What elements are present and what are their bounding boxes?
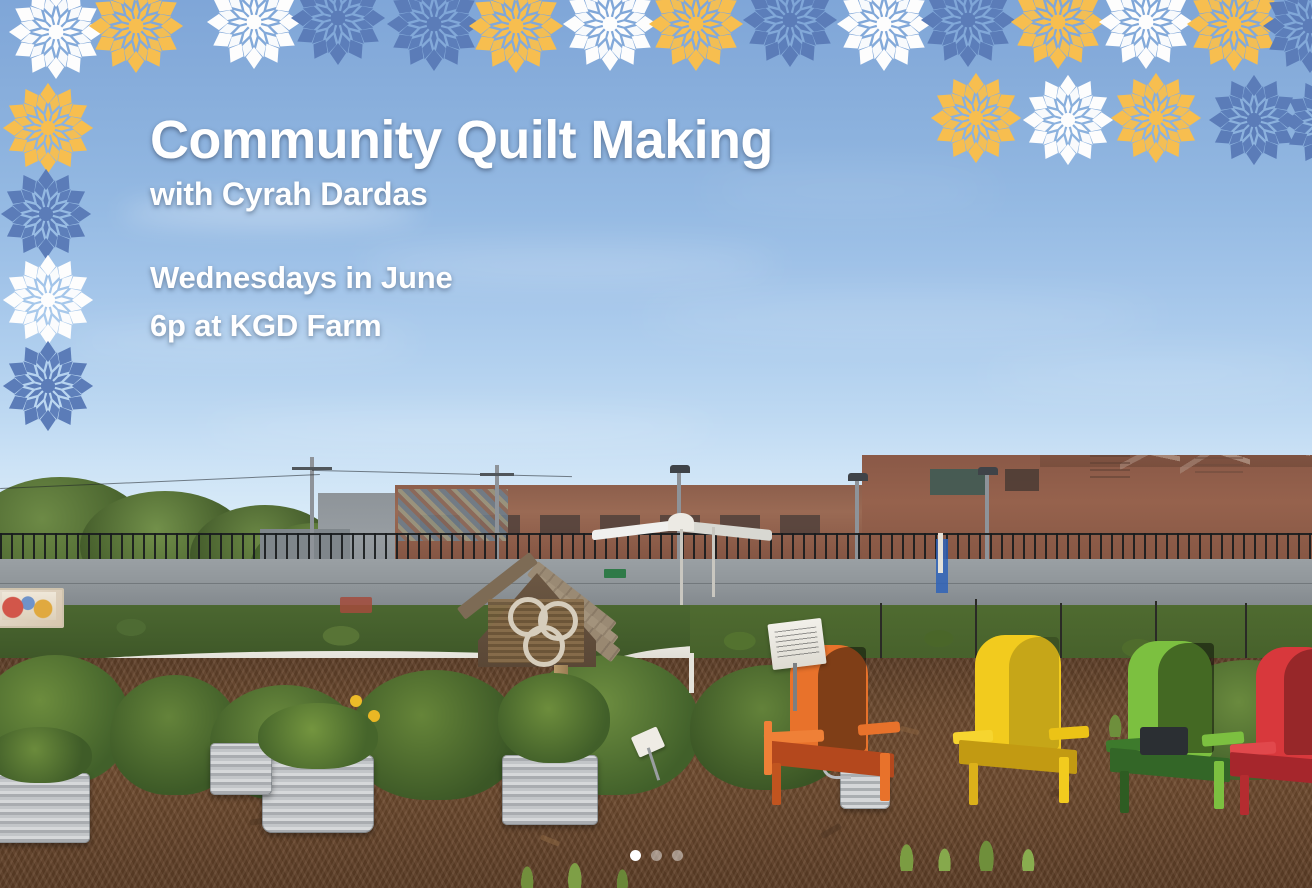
chair-arm <box>1049 726 1090 741</box>
adirondack-chair-orange <box>762 645 912 810</box>
chair-cushion-dark <box>1140 727 1188 755</box>
farm-photo-scene <box>0 455 1312 888</box>
adirondack-chair-green <box>1110 641 1250 816</box>
yellow-flower <box>350 695 362 707</box>
weed-patch <box>880 811 1070 871</box>
chair-leg <box>764 721 772 775</box>
chair-leg <box>969 763 978 805</box>
streetlight-head <box>978 467 998 475</box>
chair-back-shadow <box>1284 649 1312 755</box>
schedule-block: Wednesdays in June 6p at KGD Farm <box>150 254 950 350</box>
art-sign-graphic <box>2 592 56 620</box>
sign-post <box>793 663 797 711</box>
chair-leg <box>1240 775 1249 815</box>
planter-foliage <box>498 673 610 763</box>
marker-stake-white <box>689 653 694 693</box>
barrier-seam <box>0 583 1312 584</box>
page-title: Community Quilt Making <box>150 112 950 169</box>
brick-window <box>540 515 580 533</box>
adirondack-chair-red <box>1232 647 1312 817</box>
presenter-name: with Cyrah Dardas <box>150 177 950 212</box>
chair-leg <box>1120 771 1129 813</box>
chair-arm <box>858 721 901 736</box>
chair-leg <box>880 753 890 801</box>
planter-foliage <box>0 727 92 783</box>
streetlight-head <box>848 473 868 481</box>
umbrella-canopy-left <box>592 520 680 541</box>
promo-slide: Community Quilt Making with Cyrah Dardas… <box>0 0 1312 888</box>
chair-leg <box>772 763 781 805</box>
schedule-time-place: 6p at KGD Farm <box>150 302 950 350</box>
distant-cart <box>340 597 372 613</box>
carousel-dot-3[interactable] <box>672 850 683 861</box>
umbrella-pole-secondary <box>712 527 715 597</box>
carousel-dot-1[interactable] <box>630 850 641 861</box>
planter-foliage <box>258 703 378 769</box>
marker-stake-white <box>938 533 943 573</box>
skeleton-mural <box>1255 455 1310 483</box>
brick-window <box>780 515 820 533</box>
carousel-dots[interactable] <box>0 850 1312 861</box>
mural-ladder <box>1195 455 1243 473</box>
bee-hotel-trefoil <box>523 625 565 667</box>
adirondack-chair-yellow <box>955 635 1095 810</box>
chair-leg <box>1059 757 1069 803</box>
galvanized-planter-left <box>0 773 90 843</box>
brick-window <box>1005 469 1039 491</box>
schedule-day: Wednesdays in June <box>150 254 950 302</box>
chair-leg <box>1214 761 1224 809</box>
weed-patch <box>500 835 670 888</box>
mural-ladder <box>1090 455 1130 481</box>
shade-umbrella <box>592 511 772 555</box>
streetlight-head <box>670 465 690 473</box>
galvanized-planter-center <box>502 755 598 825</box>
carousel-dot-2[interactable] <box>651 850 662 861</box>
pole-crossarm <box>480 473 514 476</box>
slide-copy: Community Quilt Making with Cyrah Dardas… <box>150 112 950 350</box>
sign-text-lines <box>774 627 819 660</box>
power-wire <box>312 470 572 477</box>
